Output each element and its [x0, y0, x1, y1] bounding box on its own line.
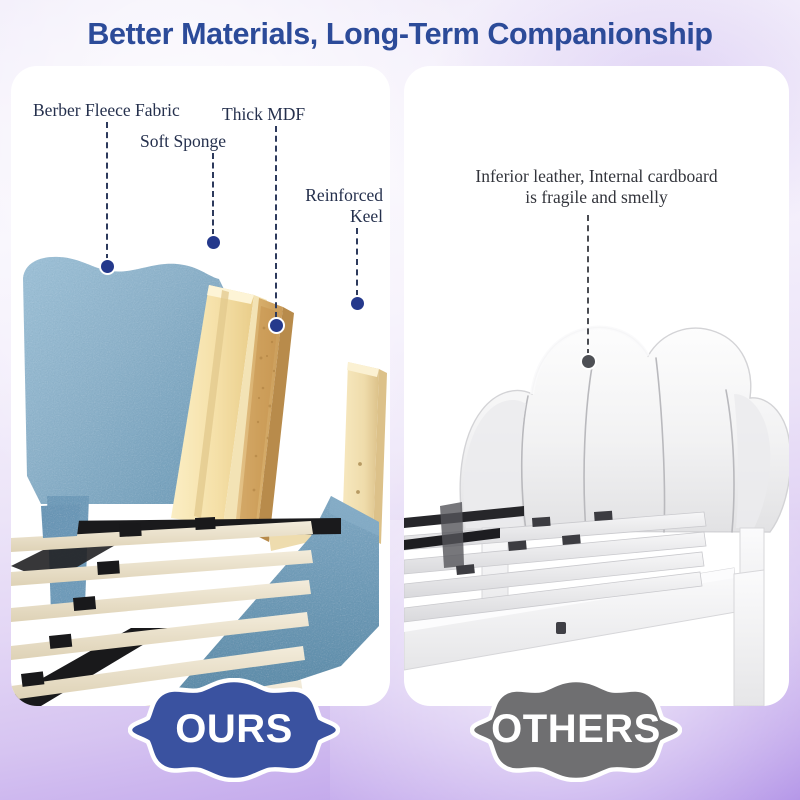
leader-line-thick-mdf [275, 126, 277, 318]
others-bed-illustration [404, 66, 789, 706]
callout-dot-reinforced-keel [349, 295, 366, 312]
badge-ours: OURS [128, 678, 340, 782]
badge-others: OTHERS [470, 678, 682, 782]
callout-dot-thick-mdf [268, 317, 285, 334]
leader-line-reinforced-keel [356, 228, 358, 296]
leader-line-inferior-leather [587, 215, 589, 355]
callout-dot-soft-sponge [205, 234, 222, 251]
callout-label-soft-sponge: Soft Sponge [140, 131, 226, 152]
product-comparison-infographic: Better Materials, Long-Term Companionshi… [0, 0, 800, 800]
callout-label-inferior-leather: Inferior leather, Internal cardboard is … [404, 166, 789, 207]
callout-label-thick-mdf: Thick MDF [222, 104, 305, 125]
callout-label-reinforced-keel: Reinforced Keel [305, 185, 383, 226]
badge-ours-label: OURS [128, 678, 340, 782]
leader-line-berber-fleece-fabric [106, 122, 108, 260]
callout-label-berber-fleece-fabric: Berber Fleece Fabric [33, 100, 180, 121]
panel-others [404, 66, 789, 706]
page-title: Better Materials, Long-Term Companionshi… [0, 17, 800, 52]
callout-label-line-2: is fragile and smelly [525, 187, 667, 207]
panel-ours [11, 66, 390, 706]
callout-dot-berber-fleece-fabric [99, 258, 116, 275]
leader-line-soft-sponge [212, 153, 214, 235]
callout-dot-inferior-leather [580, 353, 597, 370]
ours-bed-illustration [11, 66, 390, 706]
badge-others-label: OTHERS [470, 678, 682, 782]
callout-label-line-1: Inferior leather, Internal cardboard [475, 166, 717, 186]
